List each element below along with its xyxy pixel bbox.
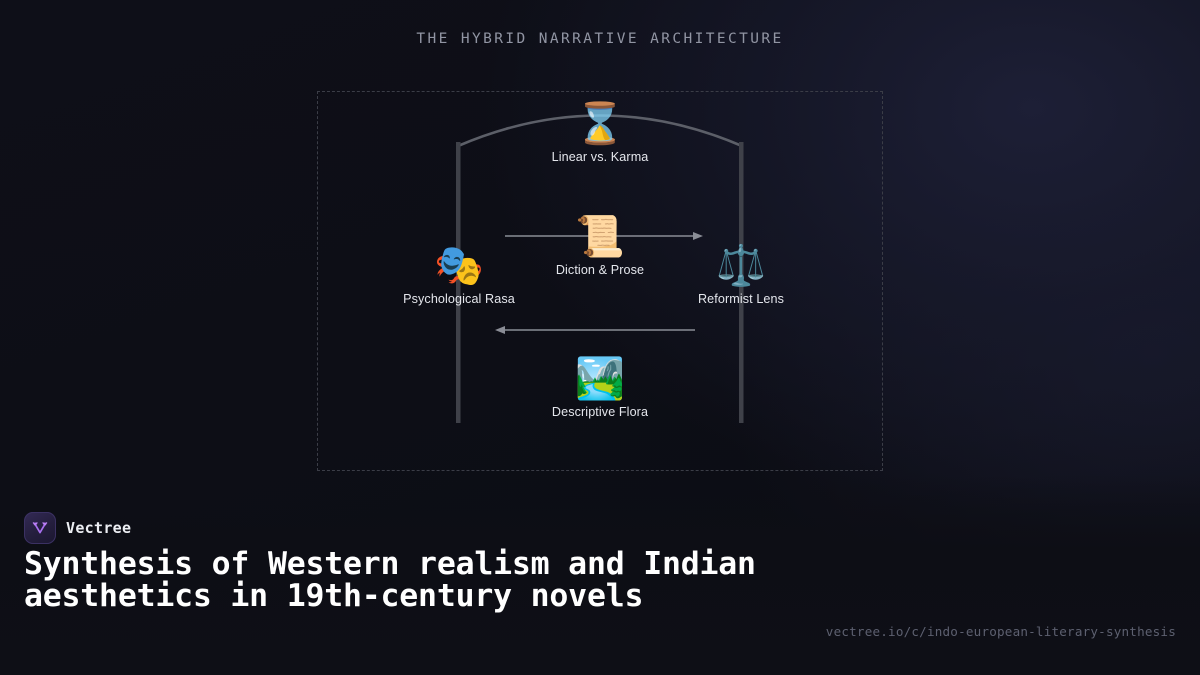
- node-label: Reformist Lens: [641, 292, 841, 306]
- diagram-node-psychological-rasa[interactable]: 🎭 Psychological Rasa: [359, 243, 559, 306]
- national-park-icon: 🏞️: [500, 356, 700, 402]
- slide-canvas: THE HYBRID NARRATIVE ARCHITECTURE ⌛ Line…: [0, 0, 1200, 675]
- diagram-node-linear-vs-karma[interactable]: ⌛ Linear vs. Karma: [500, 101, 700, 164]
- balance-scale-icon: ⚖️: [641, 243, 841, 289]
- source-url[interactable]: vectree.io/c/indo-european-literary-synt…: [826, 624, 1176, 639]
- performing-arts-icon: 🎭: [359, 243, 559, 289]
- node-label: Psychological Rasa: [359, 292, 559, 306]
- hourglass-icon: ⌛: [500, 101, 700, 147]
- connector-bottom-arrow: [495, 326, 695, 334]
- diagram-node-descriptive-flora[interactable]: 🏞️ Descriptive Flora: [500, 356, 700, 419]
- brand-row[interactable]: Vectree: [24, 512, 131, 544]
- headline: Synthesis of Western realism and Indian …: [24, 548, 854, 612]
- node-label: Descriptive Flora: [500, 405, 700, 419]
- vectree-logo-icon: [24, 512, 56, 544]
- node-label: Linear vs. Karma: [500, 150, 700, 164]
- diagram-node-reformist-lens[interactable]: ⚖️ Reformist Lens: [641, 243, 841, 306]
- brand-name: Vectree: [66, 519, 131, 537]
- page-title: THE HYBRID NARRATIVE ARCHITECTURE: [0, 31, 1200, 47]
